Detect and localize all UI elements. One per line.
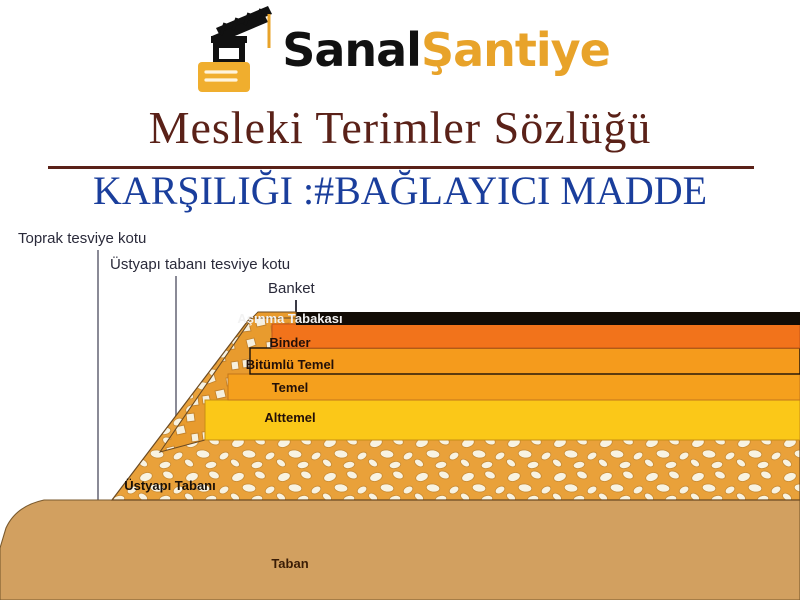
brand-logo: SanalŞantiye xyxy=(0,4,800,96)
page-root: SanalŞantiye Mesleki Terimler Sözlüğü KA… xyxy=(0,0,800,600)
crane-icon xyxy=(190,6,276,94)
layer-label-alttemel: Alttemel xyxy=(0,410,690,425)
layer-label-ustyapi-tabani: Üstyapı Tabanı xyxy=(0,478,570,493)
layer-label-asinma-tabakasi: Aşınma Tabakası xyxy=(0,311,690,326)
layer-label-temel: Temel xyxy=(0,380,690,395)
brand-name-part1: Sanal xyxy=(282,23,421,77)
layer-label-taban: Taban xyxy=(0,556,690,571)
page-subtitle: KARŞILIĞI :#BAĞLAYICI MADDE xyxy=(0,170,800,212)
brand-name-part2: Şantiye xyxy=(421,23,610,77)
callout-toprak-tesviye-kotu: Toprak tesviye kotu xyxy=(18,230,146,247)
pavement-cross-section-diagram: Aşınma Tabakası Binder Bitümlü Temel Tem… xyxy=(0,300,800,600)
layer-label-binder: Binder xyxy=(0,335,690,350)
brand-name: SanalŞantiye xyxy=(282,27,610,73)
layer-label-bitumlu-temel: Bitümlü Temel xyxy=(0,357,690,372)
callout-ustyapi-tabani-tesviye-kotu: Üstyapı tabanı tesviye kotu xyxy=(110,256,290,273)
page-title: Mesleki Terimler Sözlüğü xyxy=(0,104,800,152)
callout-banket: Banket xyxy=(268,280,315,297)
